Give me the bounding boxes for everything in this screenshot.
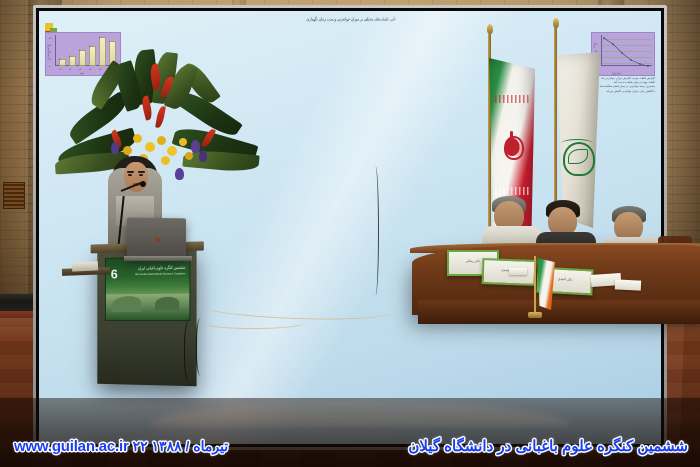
slide-title-text: تأثیر غلظت‌های مختلف بر میزان جوانه‌زنی …: [306, 16, 395, 21]
banner-number: 6: [111, 268, 118, 281]
microphone-head: [140, 181, 146, 187]
display-cable: [372, 166, 379, 296]
footer-congress-title: ششمین کنگره علوم باغبانی در دانشگاه گیلا…: [408, 437, 688, 455]
slide-title: تأثیر غلظت‌های مختلف بر میزان جوانه‌زنی …: [45, 15, 657, 22]
podium: 6 ششمین کنگره علوم باغبانی ایران 6th Ira…: [97, 249, 196, 387]
panel-table-skirt: [418, 300, 700, 324]
iran-emblem-icon: [501, 134, 523, 160]
desk-flag-pole: [534, 256, 536, 314]
footer-url: www.guilan.ac.ir: [14, 438, 129, 455]
footer-date: ۲۲ تیرماه / ۱۳۸۸: [133, 438, 229, 454]
flagpole-finial-right: [553, 18, 559, 28]
university-emblem-icon: [563, 138, 593, 174]
laptop-base: [124, 256, 192, 261]
panel-paper-2: [615, 279, 641, 290]
bar-chart-ylabel: درصد جوانه‌زنی: [47, 44, 49, 59]
line-chart-series: [592, 33, 654, 75]
banner-title-en: 6th Iranian Horticultural Sciences Congr…: [135, 272, 185, 276]
flagpole-finial-left: [487, 24, 493, 34]
line-chart-xlabel: زمان (روز): [612, 73, 621, 75]
conference-photo: LG تأثیر غلظت‌های مختلف بر میزان جوانه‌ز…: [0, 0, 700, 467]
congress-banner: 6 ششمین کنگره علوم باغبانی ایران 6th Ira…: [105, 256, 190, 321]
banner-title-fa: ششمین کنگره علوم باغبانی ایران: [138, 265, 185, 271]
presenter-laptop: [127, 218, 186, 259]
panel-paper-3: [509, 268, 527, 275]
notes-paper: [72, 261, 98, 271]
laptop-logo-icon: [155, 237, 160, 242]
line-chart-ylabel: درصد: [593, 43, 595, 48]
line-chart: 0 25 50 75 زمان (روز) درصد: [591, 32, 655, 76]
desk-flag-base: [528, 312, 542, 318]
banner-landscape-image: [106, 294, 189, 320]
floor-cable-dark-2: [196, 318, 207, 376]
footer-url-date: www.guilan.ac.ir ۲۲ تیرماه / ۱۳۸۸: [14, 438, 228, 455]
floor-cable-2: [200, 316, 306, 329]
